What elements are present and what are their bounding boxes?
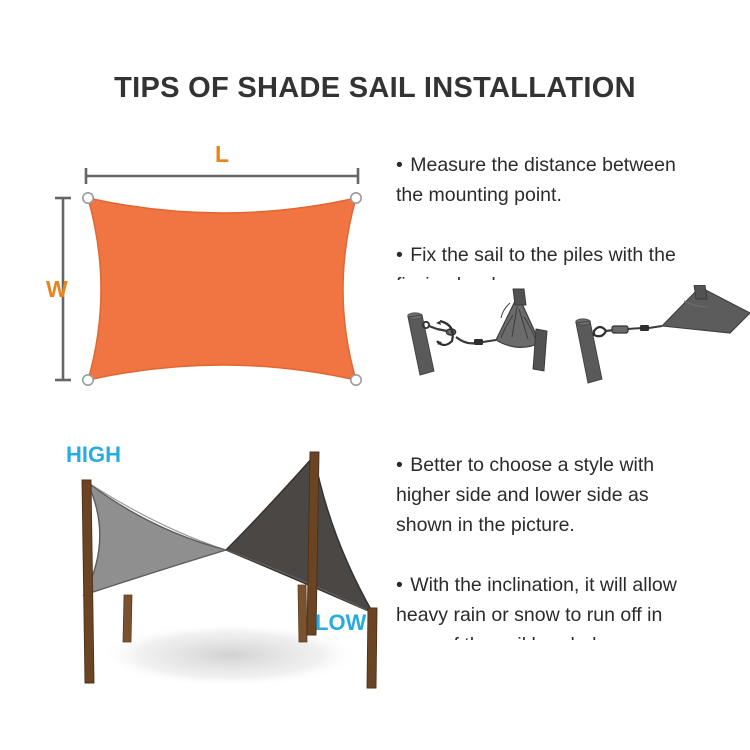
tip-item: • Measure the distance between the mount… (396, 150, 690, 210)
sail-dimension-diagram: L W (40, 140, 400, 400)
style-svg: HIGH LOW (30, 430, 410, 710)
tip-line: heavy rain or snow to run off in (396, 600, 690, 630)
post-cylinder-left (408, 313, 434, 375)
shade-sail-orange (88, 198, 356, 380)
high-label: HIGH (66, 442, 121, 467)
tip-line: the mounting point. (396, 180, 690, 210)
hardware-svg (400, 285, 750, 390)
page-title: TIPS OF SHADE SAIL INSTALLATION (0, 72, 750, 105)
post-high-left (82, 480, 94, 683)
bullet-icon: • (396, 454, 405, 476)
tip-line: fixxing hard ware. (396, 270, 690, 280)
carabiner-right (594, 327, 614, 336)
style-diagram: HIGH LOW (30, 430, 410, 710)
shade-sail-light (84, 482, 226, 595)
tip-line: • Fix the sail to the piles with the (396, 240, 690, 270)
turnbuckle-left (436, 321, 456, 345)
low-label: LOW (315, 610, 367, 635)
post-back-right (298, 585, 307, 642)
support-post-right (694, 285, 707, 299)
bullet-icon: • (396, 154, 405, 176)
tip-item: • With the inclination, it will allow he… (396, 570, 690, 640)
tip-line: case of the sail break down. (396, 630, 690, 640)
tip-line: higher side and lower side as (396, 480, 690, 510)
length-label: L (215, 141, 229, 167)
tip-line: • Measure the distance between (396, 150, 690, 180)
tip-text: Better to choose a style with (410, 454, 654, 476)
tip-text: Fix the sail to the piles with the (410, 244, 676, 266)
bullet-icon: • (396, 574, 405, 596)
grommet-top-right (351, 193, 361, 203)
tip-item: • Better to choose a style with higher s… (396, 450, 690, 540)
tip-line: • Better to choose a style with (396, 450, 690, 480)
grommet-top-left (83, 193, 93, 203)
chain-left (456, 337, 496, 345)
hardware-item-left (408, 289, 547, 375)
support-post-left-right (533, 329, 547, 371)
post-low-right (367, 608, 377, 688)
grommet-bottom-left (83, 375, 93, 385)
tips-bottom-list: • Better to choose a style with higher s… (396, 450, 690, 640)
turnbuckle-right (612, 325, 662, 333)
support-post-left-top (513, 289, 526, 305)
tip-text: With the inclination, it will allow (410, 574, 677, 596)
sail-dimension-svg: L W (40, 140, 400, 400)
post-back-left (123, 595, 132, 642)
tip-text: Measure the distance between (410, 154, 676, 176)
length-dimension-line (86, 168, 358, 184)
hardware-diagram (400, 285, 750, 390)
tip-item: • Fix the sail to the piles with the fix… (396, 240, 690, 280)
tip-line: • With the inclination, it will allow (396, 570, 690, 600)
infographic-page: TIPS OF SHADE SAIL INSTALLATION (0, 0, 750, 750)
grommet-bottom-right (351, 375, 361, 385)
width-label: W (46, 276, 68, 302)
tips-top-list: • Measure the distance between the mount… (396, 150, 690, 280)
eye-bolt-left (423, 322, 437, 329)
tip-line: shown in the picture. (396, 510, 690, 540)
hardware-item-right (576, 285, 750, 383)
bullet-icon: • (396, 244, 405, 266)
